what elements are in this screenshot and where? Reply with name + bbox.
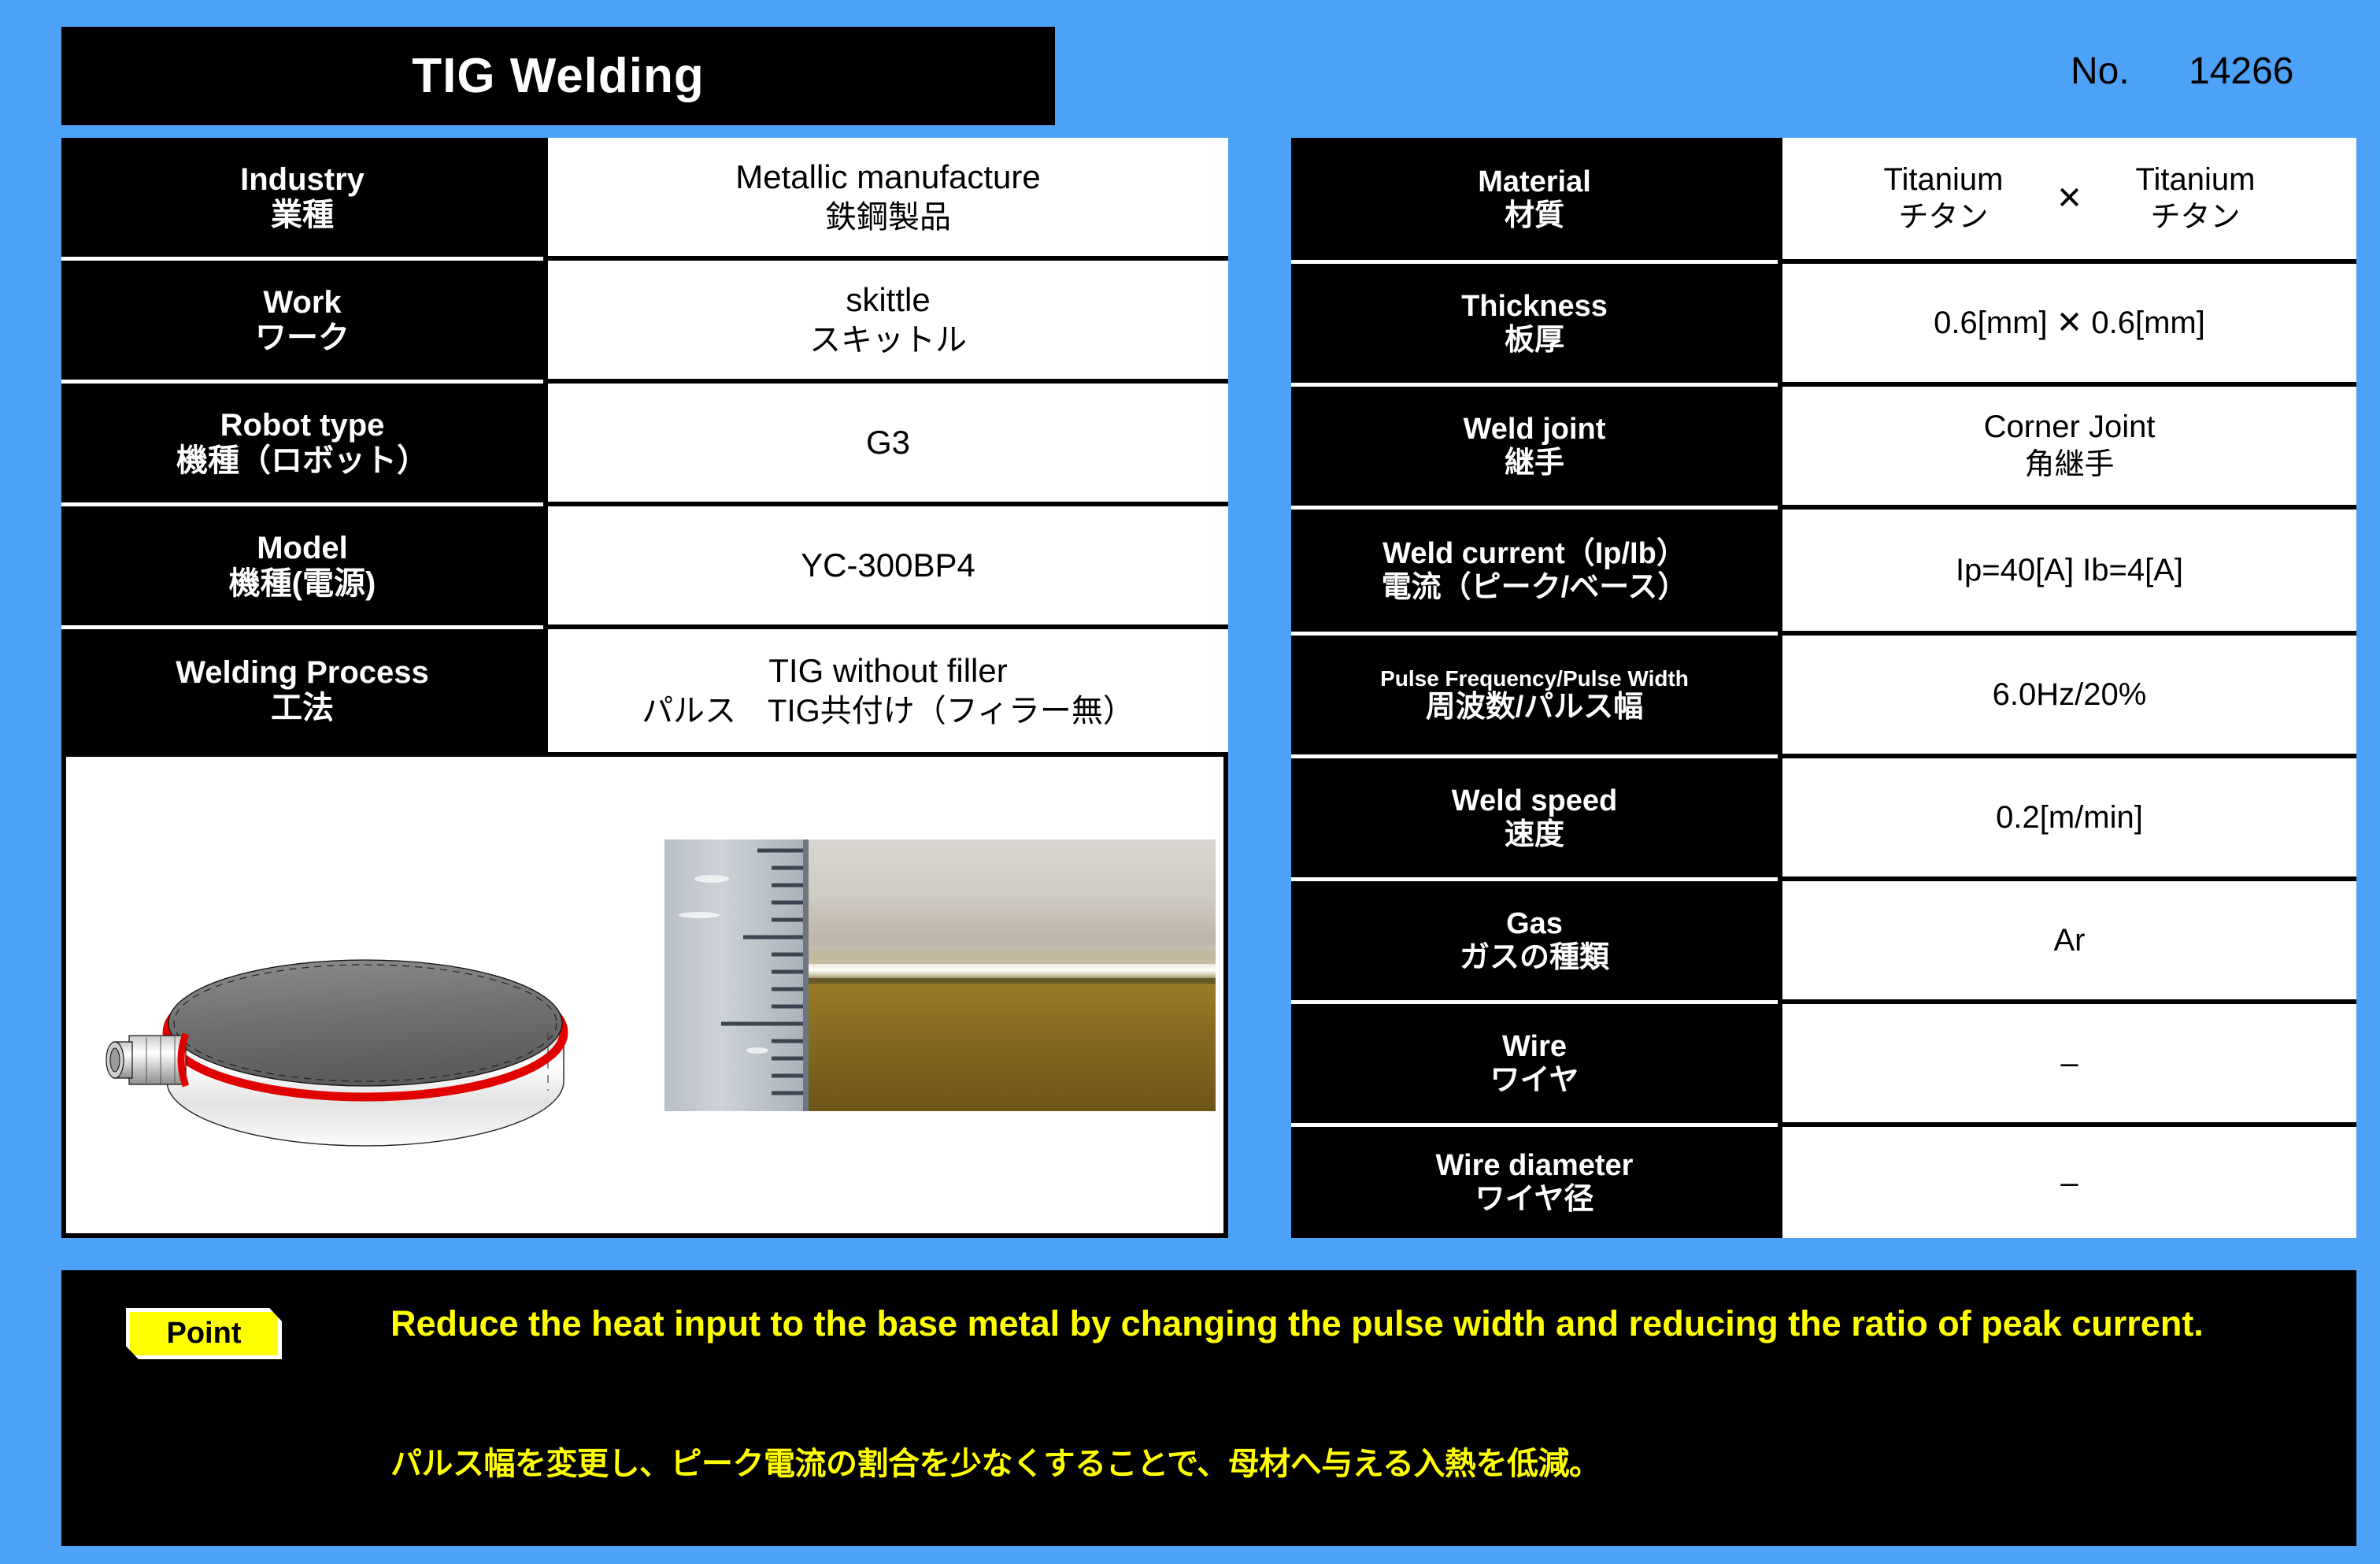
value-en: Ar <box>2054 921 2086 960</box>
spec-value-robot-type: G3 <box>543 384 1228 506</box>
cad-top-face <box>168 960 562 1086</box>
value-jp: 鉄鋼製品 <box>825 198 951 237</box>
spec-value-wire-diameter: – <box>1778 1127 2356 1238</box>
value-en: G3 <box>866 422 910 464</box>
title-bar: TIG Welding <box>61 27 1055 125</box>
spec-label-industry: Industry 業種 <box>61 138 543 261</box>
spec-value-welding-process: TIG without filler パルス TIG共付け（フィラー無） <box>543 629 1228 752</box>
label-en: Weld joint <box>1464 413 1606 447</box>
value-en: – <box>2060 1043 2078 1083</box>
label-en: Work <box>263 285 341 321</box>
spec-value-gas: Ar <box>1778 881 2356 1004</box>
spec-value-weld-joint: Corner Joint 角継手 <box>1778 387 2356 510</box>
point-text-en: Reduce the heat input to the base metal … <box>390 1299 2296 1349</box>
label-jp: 業種 <box>271 198 334 233</box>
table-row: Model 機種(電源) YC-300BP4 <box>61 506 1228 629</box>
table-row: Welding Process 工法 TIG without filler パル… <box>61 629 1228 752</box>
spec-value-material: Titanium チタン ✕ Titanium チタン <box>1778 138 2356 264</box>
multiply-icon: ✕ <box>2042 179 2097 218</box>
value-en: 0.6[mm] ✕ 0.6[mm] <box>1934 303 2205 343</box>
table-row: Wire diameter ワイヤ径 – <box>1291 1127 2356 1238</box>
spec-value-work: skittle スキットル <box>543 261 1228 384</box>
spec-label-weld-speed: Weld speed 速度 <box>1291 758 1778 881</box>
document-number: No. 14266 <box>2071 43 2354 98</box>
weld-photo-svg <box>664 839 1216 1111</box>
table-row: Work ワーク skittle スキットル <box>61 261 1228 384</box>
table-row: Thickness 板厚 0.6[mm] ✕ 0.6[mm] <box>1291 264 2356 387</box>
table-row: Wire ワイヤ – <box>1291 1004 2356 1127</box>
spec-value-weld-speed: 0.2[m/min] <box>1778 758 2356 881</box>
cad-nozzle <box>106 1036 186 1084</box>
left-spec-table: Industry 業種 Metallic manufacture 鉄鋼製品 Wo… <box>61 138 1228 752</box>
material-left-en: Titanium <box>1884 160 2004 199</box>
label-en: Welding Process <box>176 655 429 691</box>
spec-label-work: Work ワーク <box>61 261 543 384</box>
spec-value-thickness: 0.6[mm] ✕ 0.6[mm] <box>1778 264 2356 387</box>
media-panel <box>61 752 1228 1238</box>
label-jp: 電流（ピーク/ベース） <box>1382 571 1688 605</box>
spec-label-model: Model 機種(電源) <box>61 506 543 629</box>
ruler <box>664 839 808 1111</box>
table-row: Weld current（Ip/Ib） 電流（ピーク/ベース） Ip=40[A]… <box>1291 510 2356 636</box>
spec-label-gas: Gas ガスの種類 <box>1291 881 1778 1004</box>
spec-label-wire-diameter: Wire diameter ワイヤ径 <box>1291 1127 1778 1238</box>
label-en: Weld speed <box>1452 784 1617 818</box>
label-en: Weld current（Ip/Ib） <box>1382 537 1686 571</box>
label-jp: 継手 <box>1505 447 1564 480</box>
spec-label-pulse: Pulse Frequency/Pulse Width 周波数/パルス幅 <box>1291 636 1778 758</box>
label-jp: 周波数/パルス幅 <box>1426 691 1644 725</box>
table-row: Robot type 機種（ロボット） G3 <box>61 384 1228 506</box>
value-en: – <box>2060 1163 2078 1203</box>
spec-label-thickness: Thickness 板厚 <box>1291 264 1778 387</box>
table-row: Pulse Frequency/Pulse Width 周波数/パルス幅 6.0… <box>1291 636 2356 758</box>
right-spec-table: Material 材質 Titanium チタン ✕ Titanium チタン … <box>1291 138 2356 1238</box>
cad-model-svg <box>82 773 664 1214</box>
spec-label-wire: Wire ワイヤ <box>1291 1004 1778 1127</box>
point-text-jp: パルス幅を変更し、ピーク電流の割合を少なくすることで、母材へ与える入熱を低減。 <box>390 1445 2296 1483</box>
label-en: Gas <box>1506 907 1563 941</box>
point-badge: Point <box>126 1308 282 1359</box>
material-left: Titanium チタン <box>1845 160 2042 237</box>
spec-value-pulse: 6.0Hz/20% <box>1778 636 2356 758</box>
value-en: YC-300BP4 <box>801 545 975 587</box>
value-jp: 角継手 <box>2024 447 2114 484</box>
page-title: TIG Welding <box>412 52 705 101</box>
spec-value-model: YC-300BP4 <box>543 506 1228 629</box>
label-en: Industry <box>240 162 365 198</box>
value-en: 6.0Hz/20% <box>1993 675 2147 714</box>
material-left-jp: チタン <box>1898 199 1988 237</box>
table-row: Weld speed 速度 0.2[m/min] <box>1291 758 2356 881</box>
spec-value-wire: – <box>1778 1004 2356 1127</box>
label-jp: ワーク <box>255 321 350 356</box>
label-en: Material <box>1478 165 1591 199</box>
value-en: 0.2[m/min] <box>1996 798 2143 837</box>
label-jp: ワイヤ径 <box>1475 1183 1594 1217</box>
page-header: TIG Welding No. 14266 <box>0 0 2380 138</box>
document-number-value: 14266 <box>2189 50 2293 93</box>
point-block: Point Reduce the heat input to the base … <box>61 1270 2356 1546</box>
spec-value-industry: Metallic manufacture 鉄鋼製品 <box>543 138 1228 261</box>
table-row: Material 材質 Titanium チタン ✕ Titanium チタン <box>1291 138 2356 264</box>
label-jp: ガスの種類 <box>1460 941 1609 975</box>
material-pair: Titanium チタン ✕ Titanium チタン <box>1782 160 2356 237</box>
material-right-jp: チタン <box>2150 199 2240 237</box>
label-jp: 機種(電源) <box>229 566 376 602</box>
value-en: Metallic manufacture <box>735 157 1041 198</box>
spec-label-weld-current: Weld current（Ip/Ib） 電流（ピーク/ベース） <box>1291 510 1778 636</box>
label-en: Pulse Frequency/Pulse Width <box>1380 666 1689 691</box>
material-right: Titanium チタン <box>2097 160 2294 237</box>
label-jp: 機種（ロボット） <box>176 443 428 479</box>
spec-label-welding-process: Welding Process 工法 <box>61 629 543 752</box>
table-row: Industry 業種 Metallic manufacture 鉄鋼製品 <box>61 138 1228 261</box>
label-en: Wire <box>1502 1030 1567 1064</box>
table-row: Weld joint 継手 Corner Joint 角継手 <box>1291 387 2356 510</box>
spec-label-robot-type: Robot type 機種（ロボット） <box>61 384 543 506</box>
document-number-label: No. <box>2071 50 2189 93</box>
label-jp: ワイヤ <box>1490 1064 1579 1098</box>
value-en: Ip=40[A] Ib=4[A] <box>1956 550 2183 590</box>
spec-value-weld-current: Ip=40[A] Ib=4[A] <box>1778 510 2356 636</box>
value-en: skittle <box>846 280 930 321</box>
weld-photo <box>664 839 1216 1111</box>
label-jp: 工法 <box>271 691 334 726</box>
label-en: Wire diameter <box>1436 1149 1634 1183</box>
label-en: Thickness <box>1461 290 1608 324</box>
table-row: Gas ガスの種類 Ar <box>1291 881 2356 1004</box>
cad-model-image <box>82 773 664 1214</box>
value-jp: パルス TIG共付け（フィラー無） <box>642 691 1134 731</box>
material-right-en: Titanium <box>2136 160 2256 199</box>
value-en: TIG without filler <box>768 650 1007 692</box>
label-en: Robot type <box>220 408 385 443</box>
label-jp: 材質 <box>1505 199 1564 233</box>
spec-label-material: Material 材質 <box>1291 138 1778 264</box>
label-jp: 板厚 <box>1505 324 1564 358</box>
value-jp: スキットル <box>809 321 967 360</box>
spec-label-weld-joint: Weld joint 継手 <box>1291 387 1778 510</box>
label-jp: 速度 <box>1505 818 1564 852</box>
label-en: Model <box>257 531 348 566</box>
value-en: Corner Joint <box>1984 407 2156 447</box>
